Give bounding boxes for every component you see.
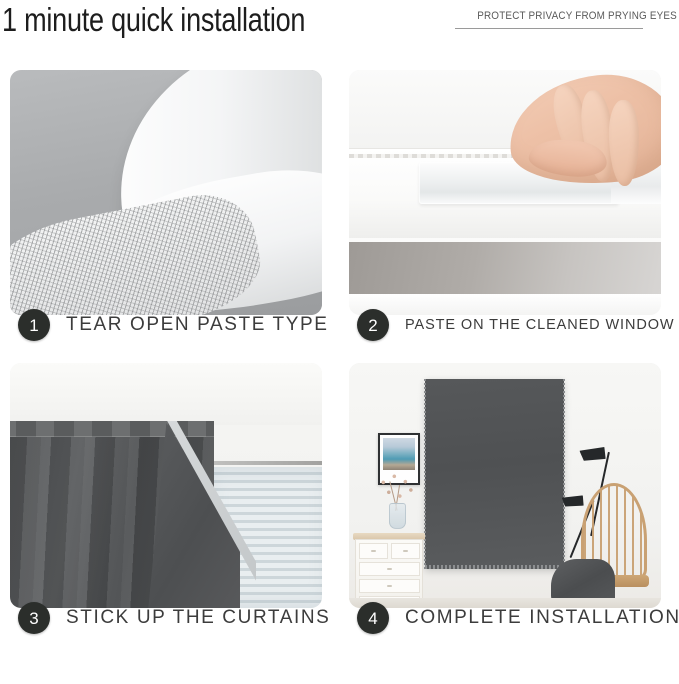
ceiling-area [10,363,322,425]
step-number-badge-3: 3 [18,602,50,634]
drawer-knob [387,585,392,587]
step-number-badge-2: 2 [357,309,389,341]
step-2-caption-row: 2 PASTE ON THE CLEANED WINDOW FRAME [349,301,661,349]
step-4-photo [349,363,661,608]
step-card-4: 4 COMPLETE INSTALLATION [349,363,661,642]
step-3-caption: STICK UP THE CURTAINS [66,607,330,629]
step-1-photo [10,70,322,315]
step-number-badge-4: 4 [357,602,389,634]
step-2-photo [349,70,661,315]
step-1-caption-row: 1 TEAR OPEN PASTE TYPE [10,301,322,349]
tagline-block: PROTECT PRIVACY FROM PRYING EYES [455,10,677,29]
step-2-caption: PASTE ON THE CLEANED WINDOW FRAME [405,317,679,333]
drawer-knob [387,568,392,570]
tagline-text: PROTECT PRIVACY FROM PRYING EYES [477,10,677,22]
installed-blackout-curtain [425,379,564,569]
step-3-photo [10,363,322,608]
window-glass-pane [349,242,661,294]
step-3-caption-row: 3 STICK UP THE CURTAINS [10,594,322,642]
glass-vase [389,503,406,529]
header: 1 minute quick installation PROTECT PRIV… [0,0,679,62]
drawer-knob [371,550,376,552]
step-4-caption: COMPLETE INSTALLATION [405,607,679,629]
page-title: 1 minute quick installation [2,1,305,39]
step-number-badge-1: 1 [18,309,50,341]
step-card-1: 1 TEAR OPEN PASTE TYPE [10,70,322,349]
tagline-divider [455,28,643,29]
installation-guide-page: 1 minute quick installation PROTECT PRIV… [0,0,679,684]
artwork-seascape-image [383,438,415,470]
step-card-2: 2 PASTE ON THE CLEANED WINDOW FRAME [349,70,661,349]
step-1-caption: TEAR OPEN PASTE TYPE [66,314,329,336]
step-4-caption-row: 4 COMPLETE INSTALLATION [349,594,661,642]
step-card-3: 3 STICK UP THE CURTAINS [10,363,322,642]
drawer-knob [403,550,408,552]
installed-curtain-bottom-hem [425,565,564,569]
steps-grid: 1 TEAR OPEN PASTE TYPE [0,62,679,684]
